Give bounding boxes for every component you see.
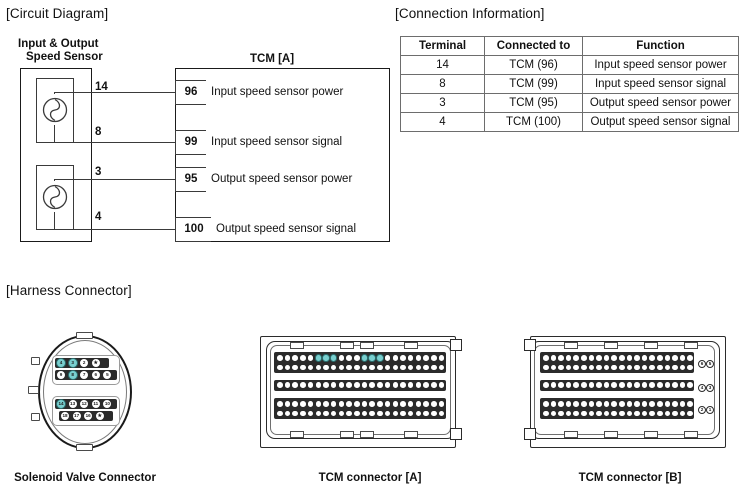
connector-pin bbox=[422, 354, 430, 362]
connector-pin bbox=[588, 400, 596, 408]
connector-pin bbox=[430, 364, 438, 372]
connector-pin bbox=[368, 381, 376, 389]
connector-pin bbox=[595, 354, 603, 362]
table-row: 3 TCM (95) Output speed sensor power bbox=[401, 94, 739, 113]
solenoid-tab-left-3 bbox=[31, 413, 40, 421]
tcm-pin-number-100: 100 bbox=[180, 223, 208, 235]
connector-pin bbox=[595, 410, 603, 418]
tcm-b-notch-top-4 bbox=[684, 342, 698, 349]
connector-pin bbox=[542, 400, 550, 408]
connector-pin bbox=[626, 354, 634, 362]
circuit-diagram-title: [Circuit Diagram] bbox=[6, 6, 108, 21]
connector-pin bbox=[557, 400, 565, 408]
connector-pin bbox=[299, 364, 307, 372]
connector-pin: 3 bbox=[68, 358, 78, 368]
tcm-connector-b: 654321 bbox=[512, 336, 734, 454]
connector-pin bbox=[307, 400, 315, 408]
tcm-b-notch-bottom-1 bbox=[564, 431, 578, 438]
connector-pin bbox=[291, 410, 299, 418]
connector-pin bbox=[322, 410, 330, 418]
tcm-function-95: Output speed sensor power bbox=[211, 173, 352, 185]
connector-pin bbox=[618, 400, 626, 408]
connector-pin bbox=[338, 354, 346, 362]
connector-pin bbox=[345, 410, 353, 418]
connector-pin bbox=[322, 364, 330, 372]
wire-8-to-99 bbox=[69, 142, 175, 143]
connector-pin bbox=[542, 364, 550, 372]
sensor-lead-1a bbox=[54, 92, 69, 93]
tcm-b-notch-top-2 bbox=[604, 342, 618, 349]
connector-pin bbox=[415, 354, 423, 362]
connector-pin bbox=[641, 354, 649, 362]
tcm-a-notch-top-3 bbox=[360, 342, 374, 349]
connector-pin bbox=[276, 381, 284, 389]
solenoid-valve-connector: 432★987651413121110181716★ bbox=[24, 333, 146, 453]
connector-pin bbox=[671, 364, 679, 372]
connector-pin bbox=[542, 354, 550, 362]
tcm-a-notch-bottom-3 bbox=[360, 431, 374, 438]
tcm-connector-a bbox=[252, 336, 472, 454]
connector-pin bbox=[671, 354, 679, 362]
connector-pin bbox=[353, 400, 361, 408]
connector-pin bbox=[399, 354, 407, 362]
cell-terminal: 8 bbox=[401, 75, 485, 94]
column-header-terminal: Terminal bbox=[401, 37, 485, 56]
connector-pin bbox=[664, 381, 672, 389]
connector-pin bbox=[648, 381, 656, 389]
connector-pin bbox=[361, 400, 369, 408]
connector-pin bbox=[618, 381, 626, 389]
connector-pin bbox=[572, 381, 580, 389]
connector-pin bbox=[415, 381, 423, 389]
wire-4-to-100 bbox=[69, 229, 175, 230]
connector-pin bbox=[671, 381, 679, 389]
connector-pin bbox=[338, 400, 346, 408]
sensor-lead-2b bbox=[54, 212, 55, 230]
connector-pin bbox=[384, 354, 392, 362]
connector-pin bbox=[542, 410, 550, 418]
connection-information-table: Terminal Connected to Function 14 TCM (9… bbox=[400, 36, 739, 132]
connector-pin bbox=[361, 354, 369, 362]
connector-pin bbox=[686, 410, 694, 418]
tcm-a-notch-bottom-2 bbox=[340, 431, 354, 438]
connector-pin bbox=[345, 364, 353, 372]
solenoid-tab-bottom bbox=[76, 444, 93, 451]
tcm-a-label: TCM [A] bbox=[250, 53, 294, 65]
connector-pin bbox=[353, 354, 361, 362]
connector-pin bbox=[656, 400, 664, 408]
connector-pin bbox=[610, 364, 618, 372]
cell-terminal: 14 bbox=[401, 56, 485, 75]
connector-pin bbox=[368, 400, 376, 408]
column-header-function: Function bbox=[583, 37, 739, 56]
connector-pin bbox=[322, 381, 330, 389]
tcm-b-notch-bottom-3 bbox=[644, 431, 658, 438]
harness-connector-title: [Harness Connector] bbox=[6, 283, 132, 298]
connector-pin bbox=[648, 410, 656, 418]
cell-function: Input speed sensor signal bbox=[583, 75, 739, 94]
connector-pin bbox=[580, 410, 588, 418]
connector-pin bbox=[315, 354, 323, 362]
tcm-a-notch-top-2 bbox=[340, 342, 354, 349]
tcm-function-96: Input speed sensor power bbox=[211, 86, 343, 98]
connector-pin: ★ bbox=[91, 358, 101, 368]
connector-pin bbox=[656, 364, 664, 372]
connector-pin bbox=[671, 410, 679, 418]
connector-pin bbox=[550, 400, 558, 408]
connector-pin bbox=[330, 354, 338, 362]
tcm-pin-number-96: 96 bbox=[180, 86, 202, 98]
connector-pin bbox=[376, 400, 384, 408]
connector-pin bbox=[610, 400, 618, 408]
solenoid-tab-top bbox=[76, 332, 93, 339]
connector-pin bbox=[438, 354, 446, 362]
connector-pin: 4 bbox=[56, 358, 66, 368]
cell-connected-to: TCM (95) bbox=[485, 94, 583, 113]
tcm-function-100: Output speed sensor signal bbox=[216, 223, 356, 235]
connector-pin bbox=[550, 354, 558, 362]
connector-pin bbox=[353, 381, 361, 389]
column-header-connected-to: Connected to bbox=[485, 37, 583, 56]
tcm-b-latch-bottom-left bbox=[524, 428, 536, 440]
wire-3-to-95 bbox=[69, 179, 175, 180]
cell-function: Output speed sensor power bbox=[583, 94, 739, 113]
connector-pin: 4 bbox=[698, 384, 706, 392]
connector-pin bbox=[588, 354, 596, 362]
connector-pin bbox=[376, 381, 384, 389]
wire-14-to-96 bbox=[69, 92, 175, 93]
cell-connected-to: TCM (96) bbox=[485, 56, 583, 75]
connector-pin: 11 bbox=[91, 399, 101, 409]
connector-pin bbox=[557, 381, 565, 389]
connector-pin bbox=[422, 410, 430, 418]
connector-pin bbox=[580, 354, 588, 362]
tcm-a-latch-bottom-right bbox=[450, 428, 462, 440]
connector-pin bbox=[550, 381, 558, 389]
connector-pin: 6 bbox=[698, 360, 706, 368]
connector-pin: 5 bbox=[706, 360, 714, 368]
cell-terminal: 3 bbox=[401, 94, 485, 113]
sensor-lead-1c bbox=[54, 142, 69, 143]
cell-terminal: 4 bbox=[401, 113, 485, 132]
tcm-b-latch-top-left bbox=[524, 339, 536, 351]
connector-pin bbox=[648, 354, 656, 362]
connector-pin bbox=[557, 354, 565, 362]
tcm-pin-number-99: 99 bbox=[180, 136, 202, 148]
tcm-b-notch-top-3 bbox=[644, 342, 658, 349]
connector-pin bbox=[322, 354, 330, 362]
connector-pin bbox=[345, 400, 353, 408]
cell-function: Output speed sensor signal bbox=[583, 113, 739, 132]
cell-connected-to: TCM (100) bbox=[485, 113, 583, 132]
connector-pin: 1 bbox=[706, 406, 714, 414]
connector-pin: 3 bbox=[706, 384, 714, 392]
connector-pin bbox=[610, 354, 618, 362]
cell-function: Input speed sensor power bbox=[583, 56, 739, 75]
connector-pin bbox=[686, 381, 694, 389]
connector-pin bbox=[664, 400, 672, 408]
connector-pin bbox=[633, 381, 641, 389]
tcm-pin-number-95: 95 bbox=[180, 173, 202, 185]
connector-pin bbox=[648, 364, 656, 372]
solenoid-valve-connector-caption: Solenoid Valve Connector bbox=[10, 472, 160, 484]
connector-pin bbox=[353, 410, 361, 418]
connector-pin bbox=[656, 354, 664, 362]
connector-pin bbox=[671, 400, 679, 408]
sensor-lead-2c bbox=[54, 229, 69, 230]
connector-pin bbox=[353, 364, 361, 372]
connector-pin bbox=[299, 410, 307, 418]
connector-pin bbox=[641, 400, 649, 408]
connector-pin bbox=[315, 381, 323, 389]
tcm-b-notch-top-1 bbox=[564, 342, 578, 349]
connector-pin bbox=[407, 354, 415, 362]
table-row: 8 TCM (99) Input speed sensor signal bbox=[401, 75, 739, 94]
tcm-connector-b-caption: TCM connector [B] bbox=[540, 472, 720, 484]
connector-pin bbox=[626, 381, 634, 389]
connector-pin bbox=[384, 400, 392, 408]
sensor-terminal-4: 4 bbox=[95, 211, 101, 223]
connection-information-title: [Connection Information] bbox=[395, 6, 544, 21]
connector-pin: 8 bbox=[68, 370, 78, 380]
connector-pin bbox=[565, 400, 573, 408]
connector-pin bbox=[291, 364, 299, 372]
connector-pin bbox=[376, 364, 384, 372]
connector-pin: 2 bbox=[698, 406, 706, 414]
speed-sensor-label-line2: Speed Sensor bbox=[26, 51, 103, 64]
table-header-row: Terminal Connected to Function bbox=[401, 37, 739, 56]
connector-pin bbox=[633, 410, 641, 418]
connector-pin: 14 bbox=[56, 399, 66, 409]
sensor-lead-stub-2 bbox=[54, 179, 55, 181]
connector-pin bbox=[648, 400, 656, 408]
tcm-b-notch-bottom-4 bbox=[684, 431, 698, 438]
connector-pin bbox=[430, 400, 438, 408]
connector-pin bbox=[291, 381, 299, 389]
connector-pin bbox=[422, 381, 430, 389]
tcm-a-notch-top-4 bbox=[404, 342, 418, 349]
connector-pin bbox=[299, 354, 307, 362]
connector-pin bbox=[542, 381, 550, 389]
connector-pin: 13 bbox=[68, 399, 78, 409]
solenoid-tab-left-2 bbox=[28, 386, 39, 394]
connector-pin bbox=[633, 354, 641, 362]
connector-pin bbox=[603, 400, 611, 408]
table-row: 4 TCM (100) Output speed sensor signal bbox=[401, 113, 739, 132]
connector-pin bbox=[276, 410, 284, 418]
sensor-terminal-8: 8 bbox=[95, 126, 101, 138]
solenoid-tab-left-1 bbox=[31, 357, 40, 365]
connector-pin bbox=[656, 381, 664, 389]
connector-pin bbox=[392, 400, 400, 408]
connector-pin bbox=[322, 400, 330, 408]
connector-pin: ★ bbox=[95, 411, 105, 421]
connector-pin bbox=[679, 354, 687, 362]
connector-pin bbox=[595, 381, 603, 389]
connector-pin bbox=[572, 364, 580, 372]
connector-pin bbox=[588, 381, 596, 389]
connector-pin bbox=[422, 400, 430, 408]
tcm-a-latch-top-right bbox=[450, 339, 462, 351]
connector-pin bbox=[284, 354, 292, 362]
connector-pin bbox=[664, 354, 672, 362]
connector-pin bbox=[686, 354, 694, 362]
connector-pin bbox=[407, 400, 415, 408]
connector-pin bbox=[610, 410, 618, 418]
tcm-b-notch-bottom-2 bbox=[604, 431, 618, 438]
connector-pin bbox=[557, 410, 565, 418]
connector-pin bbox=[399, 410, 407, 418]
connector-pin bbox=[315, 400, 323, 408]
speed-sensor-label-line1: Input & Output bbox=[18, 38, 98, 51]
cell-connected-to: TCM (99) bbox=[485, 75, 583, 94]
connector-pin: 18 bbox=[60, 411, 70, 421]
connector-pin bbox=[580, 400, 588, 408]
connector-pin bbox=[307, 354, 315, 362]
connector-pin bbox=[345, 354, 353, 362]
connector-pin bbox=[345, 381, 353, 389]
connector-pin bbox=[338, 381, 346, 389]
output-speed-sensor-coil-icon bbox=[38, 179, 72, 215]
connector-pin bbox=[291, 354, 299, 362]
tcm-a-notch-bottom-4 bbox=[404, 431, 418, 438]
connector-pin bbox=[633, 364, 641, 372]
connector-pin bbox=[368, 354, 376, 362]
connection-information-table-wrap: Terminal Connected to Function 14 TCM (9… bbox=[400, 36, 739, 132]
connector-pin bbox=[430, 354, 438, 362]
connector-pin bbox=[299, 381, 307, 389]
connector-pin bbox=[415, 400, 423, 408]
connector-pin bbox=[633, 400, 641, 408]
connector-pin bbox=[580, 364, 588, 372]
connector-pin bbox=[399, 364, 407, 372]
connector-pin bbox=[580, 381, 588, 389]
connector-pin: 6 bbox=[91, 370, 101, 380]
sensor-terminal-3: 3 bbox=[95, 166, 101, 178]
connector-pin bbox=[291, 400, 299, 408]
connector-pin bbox=[656, 410, 664, 418]
connector-pin bbox=[376, 354, 384, 362]
connector-pin: 17 bbox=[72, 411, 82, 421]
sensor-lead-1b bbox=[54, 125, 55, 143]
connector-pin bbox=[368, 364, 376, 372]
sensor-lead-2a bbox=[54, 179, 69, 180]
connector-pin bbox=[284, 400, 292, 408]
connector-pin bbox=[565, 354, 573, 362]
connector-pin bbox=[376, 410, 384, 418]
connector-pin bbox=[276, 354, 284, 362]
connector-pin bbox=[368, 410, 376, 418]
connector-pin bbox=[595, 400, 603, 408]
connector-pin: 9 bbox=[56, 370, 66, 380]
connector-pin bbox=[679, 400, 687, 408]
tcm-connector-a-caption: TCM connector [A] bbox=[280, 472, 460, 484]
connector-pin bbox=[618, 354, 626, 362]
connector-pin bbox=[618, 410, 626, 418]
tcm-a-notch-bottom-1 bbox=[290, 431, 304, 438]
connector-pin bbox=[603, 354, 611, 362]
connector-pin bbox=[392, 354, 400, 362]
connector-pin bbox=[438, 400, 446, 408]
connector-pin bbox=[686, 400, 694, 408]
input-speed-sensor-coil-icon bbox=[38, 92, 72, 128]
connector-pin bbox=[276, 400, 284, 408]
connector-pin bbox=[422, 364, 430, 372]
connector-pin bbox=[399, 400, 407, 408]
connector-pin bbox=[399, 381, 407, 389]
connector-pin bbox=[557, 364, 565, 372]
connector-pin bbox=[610, 381, 618, 389]
connector-pin bbox=[595, 364, 603, 372]
connector-pin bbox=[430, 410, 438, 418]
tcm-function-99: Input speed sensor signal bbox=[211, 136, 342, 148]
connector-pin bbox=[618, 364, 626, 372]
connector-pin bbox=[276, 364, 284, 372]
tcm-a-notch-top-1 bbox=[290, 342, 304, 349]
connector-pin bbox=[572, 400, 580, 408]
connector-pin bbox=[392, 381, 400, 389]
connector-pin bbox=[572, 410, 580, 418]
connector-pin bbox=[686, 364, 694, 372]
connector-pin bbox=[330, 400, 338, 408]
connector-pin bbox=[430, 381, 438, 389]
connector-pin bbox=[299, 400, 307, 408]
connector-pin bbox=[572, 354, 580, 362]
connector-pin bbox=[626, 400, 634, 408]
table-row: 14 TCM (96) Input speed sensor power bbox=[401, 56, 739, 75]
